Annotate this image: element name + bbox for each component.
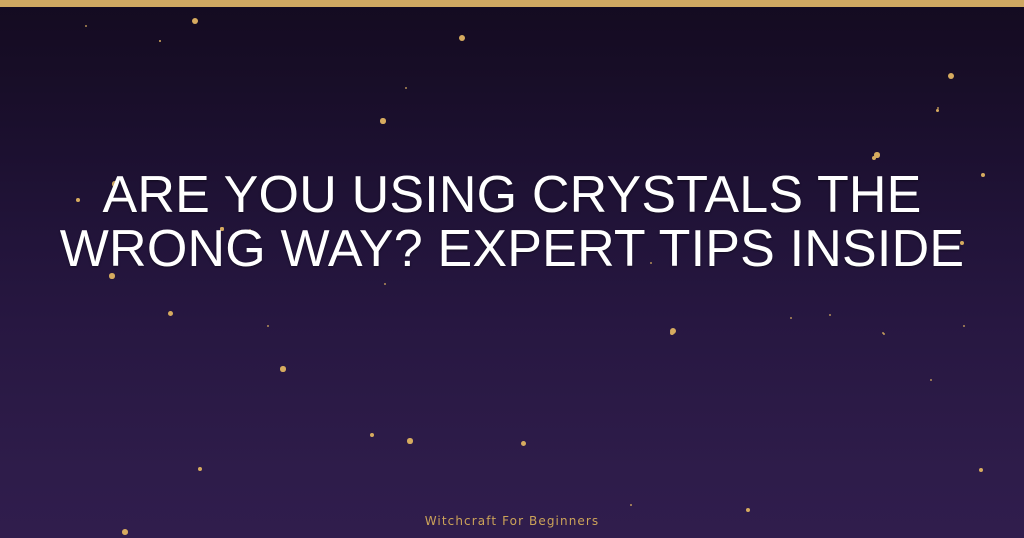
star-dot-icon xyxy=(936,109,939,112)
page-title-line-2: WRONG WAY? EXPERT TIPS INSIDE xyxy=(0,222,1024,276)
star-dot-icon xyxy=(670,328,676,334)
star-dot-icon xyxy=(122,529,128,535)
star-dot-icon xyxy=(459,35,465,41)
star-dot-icon xyxy=(280,366,285,371)
star-dot-icon xyxy=(963,325,965,327)
title-block: ARE YOU USING CRYSTALS THE WRONG WAY? EX… xyxy=(0,168,1024,276)
star-dot-icon xyxy=(159,40,162,43)
star-dot-icon xyxy=(85,25,87,27)
star-dot-icon xyxy=(872,156,876,160)
star-dot-icon xyxy=(168,311,173,316)
star-dot-icon xyxy=(521,441,526,446)
slide-canvas: ARE YOU USING CRYSTALS THE WRONG WAY? EX… xyxy=(0,0,1024,538)
star-dot-icon xyxy=(405,87,408,90)
star-dot-icon xyxy=(407,438,412,443)
star-dot-icon xyxy=(979,468,983,472)
star-dot-icon xyxy=(948,73,955,80)
footer-brand-label: Witchcraft For Beginners xyxy=(425,514,600,528)
star-dot-icon xyxy=(874,152,879,157)
star-dot-icon xyxy=(882,332,884,334)
star-dot-icon xyxy=(790,317,793,320)
star-dot-icon xyxy=(198,467,202,471)
star-dot-icon xyxy=(192,18,198,24)
star-dot-icon xyxy=(380,118,385,123)
star-dot-icon xyxy=(630,504,632,506)
star-dot-icon xyxy=(370,433,374,437)
star-dot-icon xyxy=(883,333,885,335)
star-dot-icon xyxy=(930,379,932,381)
page-title-line-1: ARE YOU USING CRYSTALS THE xyxy=(0,168,1024,222)
star-dot-icon xyxy=(267,325,269,327)
star-dot-icon xyxy=(670,331,675,336)
star-dot-icon xyxy=(829,314,831,316)
star-dot-icon xyxy=(384,283,386,285)
top-accent-bar xyxy=(0,0,1024,7)
footer: Witchcraft For Beginners xyxy=(0,512,1024,530)
star-dot-icon xyxy=(937,107,939,109)
